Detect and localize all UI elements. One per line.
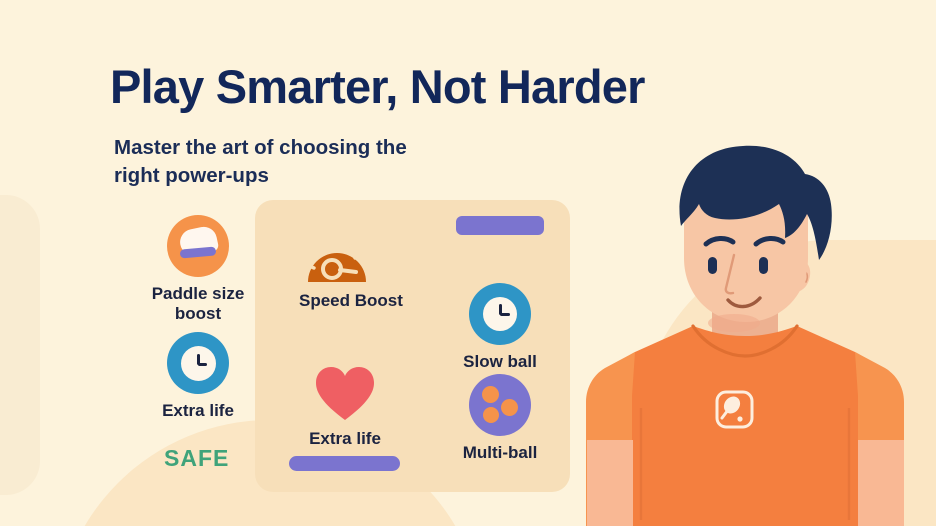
page-title: Play Smarter, Not Harder [110, 62, 810, 111]
purple-bar-top [456, 216, 544, 235]
powerup-extra-life-card[interactable]: Extra life [301, 366, 389, 449]
powerup-label: Paddle size boost [144, 284, 252, 325]
character-illustration [560, 140, 936, 526]
powerup-label: Slow ball [456, 352, 544, 372]
powerup-label: Multi-ball [450, 443, 550, 463]
multi-ball-icon [469, 374, 531, 436]
powerup-label: Extra life [301, 429, 389, 449]
powerup-multi-ball[interactable]: Multi-ball [450, 374, 550, 463]
powerup-slow-ball[interactable]: Slow ball [456, 283, 544, 372]
page-subtitle: Master the art of choosing the right pow… [114, 134, 444, 189]
speedometer-icon [302, 232, 372, 284]
purple-bar-bottom [289, 456, 400, 471]
clock-icon [167, 332, 229, 394]
powerup-label: Extra life [144, 401, 252, 421]
powerup-speed-boost[interactable]: Speed Boost [299, 232, 375, 311]
safe-badge: SAFE [164, 445, 229, 472]
powerup-extra-life-left[interactable]: Extra life [144, 332, 252, 421]
powerup-paddle-size-boost[interactable]: Paddle size boost [144, 215, 252, 325]
paddle-icon [167, 215, 229, 277]
clock-icon [469, 283, 531, 345]
heart-icon [314, 366, 376, 422]
background-blob-far-left [0, 195, 40, 495]
poster-canvas: Play Smarter, Not Harder Master the art … [0, 0, 936, 526]
powerup-label: Speed Boost [299, 291, 375, 311]
